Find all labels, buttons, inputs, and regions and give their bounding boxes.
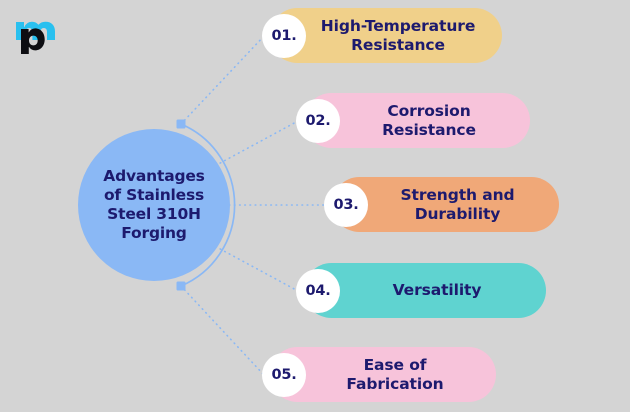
advantage-label-3: Strength and Durability xyxy=(366,186,524,223)
pm-monogram-logo xyxy=(12,8,70,56)
advantage-label-5: Ease of Fabrication xyxy=(312,356,453,393)
advantage-badge-4[interactable]: 04. xyxy=(296,269,340,313)
advantage-label-4: Versatility xyxy=(359,281,492,300)
hub-circle[interactable]: Advantages of Stainless Steel 310H Forgi… xyxy=(78,129,230,281)
advantage-number-3: 03. xyxy=(333,197,358,213)
advantage-row-5[interactable]: Ease of Fabrication 05. xyxy=(262,347,496,402)
logo-mark xyxy=(12,8,70,56)
advantage-badge-3[interactable]: 03. xyxy=(324,183,368,227)
advantage-number-4: 04. xyxy=(305,283,330,299)
advantage-row-3[interactable]: Strength and Durability 03. xyxy=(324,177,559,232)
advantage-row-4[interactable]: Versatility 04. xyxy=(296,263,546,318)
advantage-row-1[interactable]: High-Temperature Resistance 01. xyxy=(262,8,502,63)
advantage-number-2: 02. xyxy=(305,113,330,129)
advantage-badge-2[interactable]: 02. xyxy=(296,99,340,143)
advantage-number-1: 01. xyxy=(271,28,296,44)
advantage-label-1: High-Temperature Resistance xyxy=(287,17,485,54)
advantage-label-2: Corrosion Resistance xyxy=(348,102,486,139)
hub-title: Advantages of Stainless Steel 310H Forgi… xyxy=(93,167,214,243)
infographic-canvas: Advantages of Stainless Steel 310H Forgi… xyxy=(0,0,630,412)
advantage-row-2[interactable]: Corrosion Resistance 02. xyxy=(296,93,530,148)
advantage-badge-5[interactable]: 05. xyxy=(262,353,306,397)
advantage-number-5: 05. xyxy=(271,367,296,383)
logo-p-shape xyxy=(21,28,45,54)
advantage-pill-4[interactable]: Versatility xyxy=(304,263,546,318)
advantage-badge-1[interactable]: 01. xyxy=(262,14,306,58)
